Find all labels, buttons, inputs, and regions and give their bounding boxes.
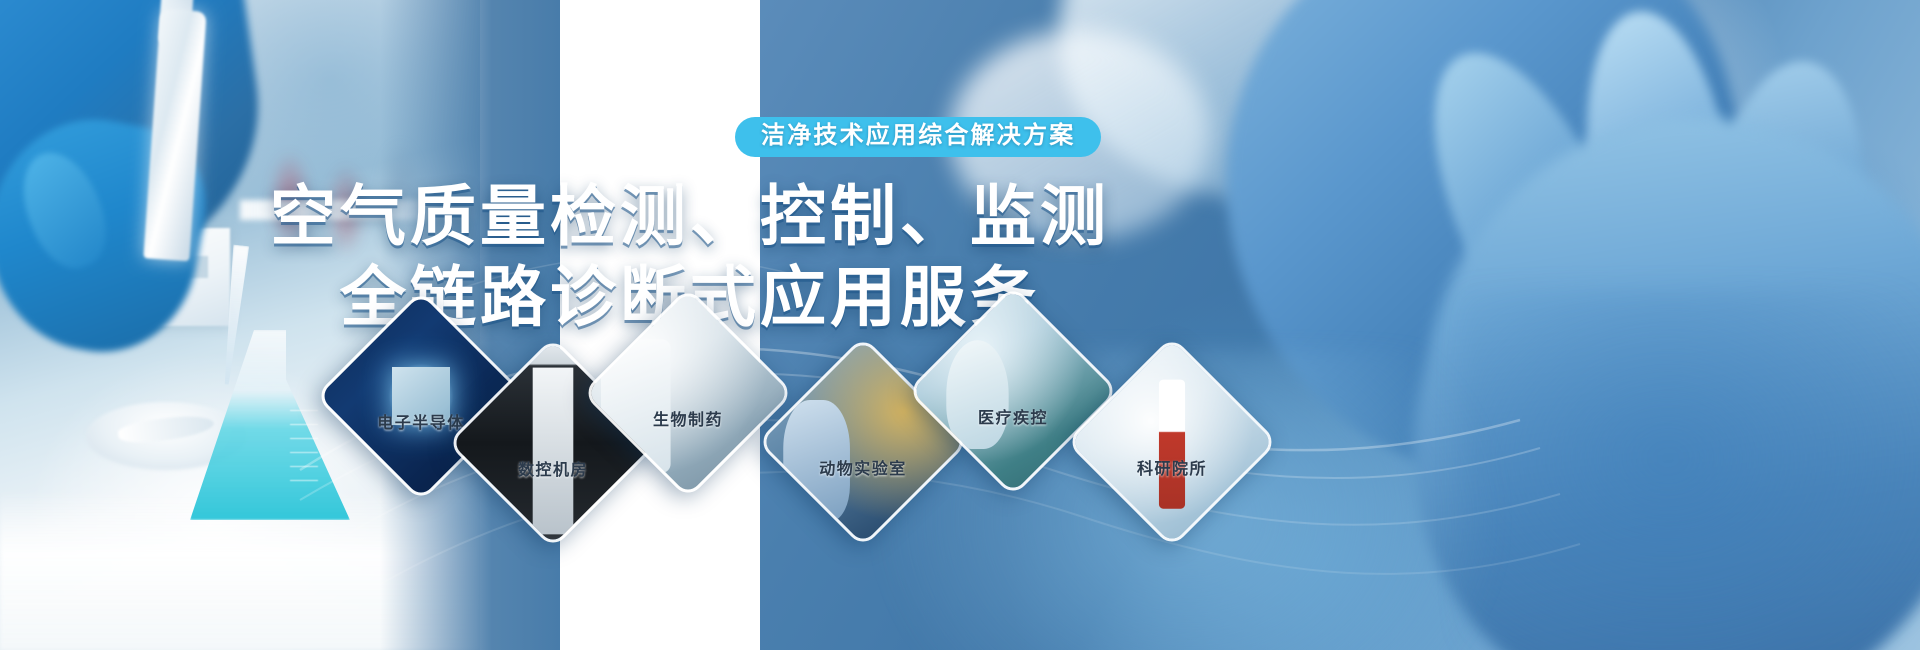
diamond-label-biopharma: 生物制药 — [603, 406, 773, 430]
diamond-label-animal-lab: 动物实验室 — [778, 455, 948, 479]
diamond-label-medical: 医疗疾控 — [928, 404, 1098, 428]
research-institute-icon — [1068, 338, 1277, 547]
hero-banner: 洁净技术应用综合解决方案 空气质量检测、控制、监测 全链路诊断式应用服务 电子半… — [0, 0, 1920, 650]
diamond-label-server-room: 数控机房 — [468, 456, 638, 480]
industry-diamond-row: 电子半导体 数控机房 生物制药 动物实验室 医疗疾控 科研院所 — [0, 0, 1920, 650]
diamond-card-research[interactable] — [1066, 336, 1278, 548]
diamond-label-research: 科研院所 — [1087, 455, 1257, 479]
